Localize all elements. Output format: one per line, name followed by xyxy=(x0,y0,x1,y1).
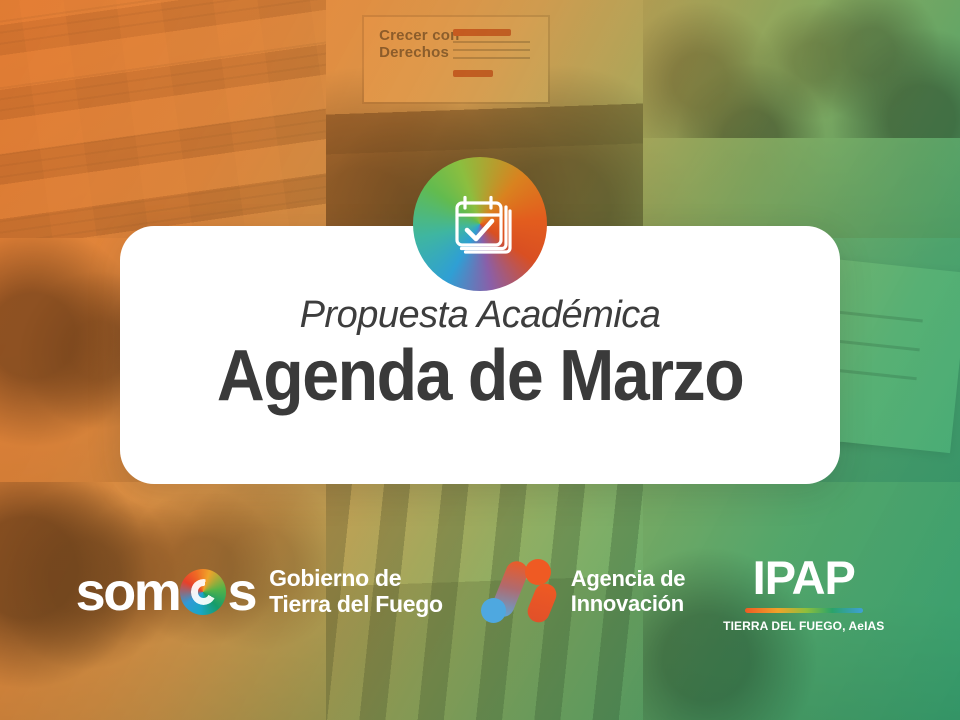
somos-subtitle-line1: Gobierno de xyxy=(269,565,401,591)
logo-ipap: IPAP TIERRA DEL FUEGO, AeIAS xyxy=(723,552,884,633)
calendar-check-icon xyxy=(413,157,547,291)
logo-somos-gobierno: som s Gobierno de Tierra del Fuego xyxy=(76,565,443,619)
agencia-label-line1: Agencia de xyxy=(571,566,685,591)
somos-word-part1: som xyxy=(76,565,180,619)
agencia-label: Agencia de Innovación xyxy=(571,567,685,616)
footer-logo-row: som s Gobierno de Tierra del Fuego Agenc… xyxy=(0,556,960,628)
poster: Crecer conDerechos xyxy=(0,0,960,720)
kicker-text: Propuesta Académica xyxy=(300,295,661,337)
somos-wordmark: som s xyxy=(76,565,255,619)
ipap-wordmark: IPAP xyxy=(753,554,855,601)
somos-spiral-icon xyxy=(180,569,226,615)
ipap-gradient-rule xyxy=(745,608,863,613)
somos-word-part2: s xyxy=(227,565,255,619)
logo-agencia-innovacion: Agencia de Innovación xyxy=(481,558,685,626)
ipap-subtitle: TIERRA DEL FUEGO, AeIAS xyxy=(723,619,884,633)
agencia-label-line2: Innovación xyxy=(571,591,684,616)
somos-subtitle: Gobierno de Tierra del Fuego xyxy=(269,566,443,618)
somos-subtitle-line2: Tierra del Fuego xyxy=(269,591,443,617)
agencia-innovacion-mark-icon xyxy=(481,558,559,626)
page-title: Agenda de Marzo xyxy=(217,339,743,415)
